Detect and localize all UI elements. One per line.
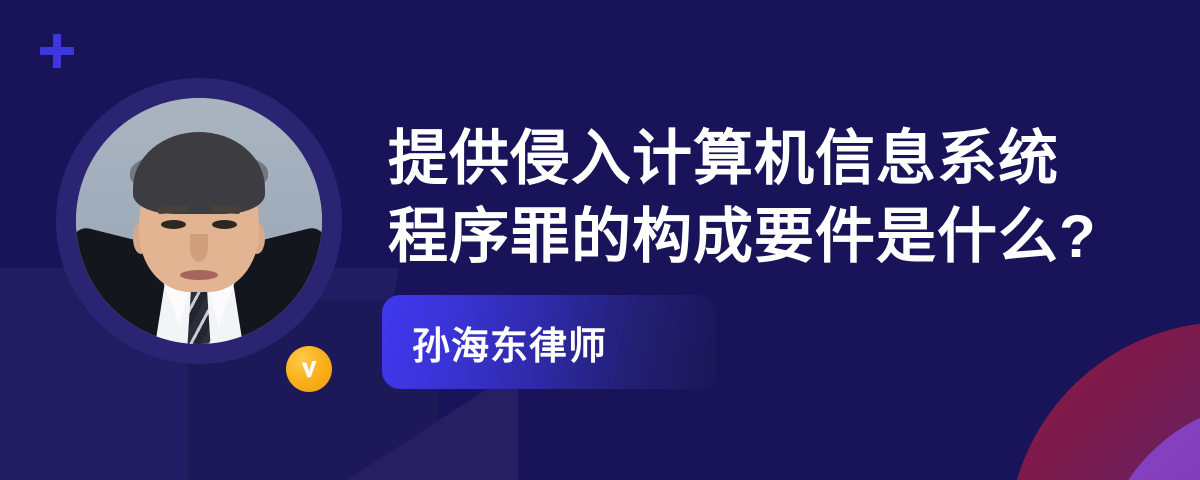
content-column: 提供侵入计算机信息系统 程序罪的构成要件是什么? 孙海东律师 [382,0,1200,480]
lawyer-question-banner: 提供侵入计算机信息系统 程序罪的构成要件是什么? 孙海东律师 [0,0,1200,480]
headline-line-2: 程序罪的构成要件是什么? [388,198,1148,276]
avatar-photo [76,98,322,344]
verified-badge-icon [286,346,332,392]
avatar[interactable] [56,78,342,364]
headline-line-1: 提供侵入计算机信息系统 [388,120,1148,198]
plus-icon [40,34,74,68]
author-name-pill[interactable]: 孙海东律师 [382,295,716,389]
author-name-label: 孙海东律师 [412,315,607,370]
page-title: 提供侵入计算机信息系统 程序罪的构成要件是什么? [388,120,1148,276]
